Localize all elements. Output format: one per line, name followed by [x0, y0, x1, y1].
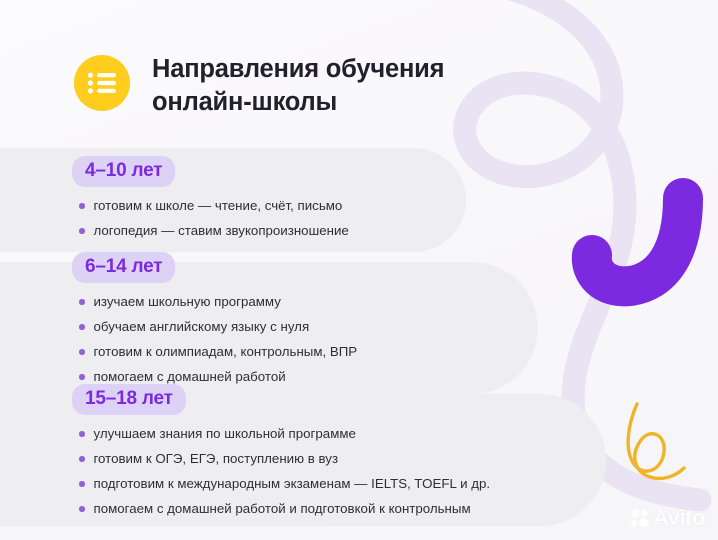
age-range-badge: 6–14 лет — [72, 252, 175, 283]
list-item: обучаем английскому языку с нуля — [72, 317, 357, 337]
avito-dots-icon — [630, 509, 649, 528]
page-title: Направления обучения онлайн-школы — [152, 52, 444, 118]
bullet-dot-icon — [79, 374, 85, 380]
list-item: готовим к школе — чтение, счёт, письмо — [72, 196, 349, 216]
bullet-dot-icon — [79, 481, 85, 487]
list-item: готовим к олимпиадам, контрольным, ВПР — [72, 342, 357, 362]
list-item-label: изучаем школьную программу — [94, 292, 281, 312]
list-item-label: логопедия — ставим звукопроизношение — [94, 221, 349, 241]
purple-hook-shape — [592, 198, 683, 286]
gold-cursive-squiggle — [628, 404, 684, 478]
list-item: готовим к ОГЭ, ЕГЭ, поступлению в вуз — [72, 449, 490, 469]
bullet-dot-icon — [79, 349, 85, 355]
bullet-dot-icon — [79, 324, 85, 330]
age-range-badge: 15–18 лет — [72, 384, 186, 415]
list-item-label: помогаем с домашней работой и подготовко… — [94, 499, 471, 519]
list-item: улучшаем знания по школьной программе — [72, 424, 490, 444]
bullet-dot-icon — [79, 203, 85, 209]
avito-watermark: Avito — [630, 507, 705, 529]
list-item-label: готовим к олимпиадам, контрольным, ВПР — [94, 342, 358, 362]
list-item: изучаем школьную программу — [72, 292, 357, 312]
avito-wordmark: Avito — [653, 507, 705, 529]
header: Направления обучения онлайн-школы — [74, 52, 444, 118]
benefit-list: изучаем школьную программу обучаем англи… — [72, 292, 357, 387]
age-group-section-0: 4–10 лет готовим к школе — чтение, счёт,… — [72, 156, 349, 241]
list-item-label: улучшаем знания по школьной программе — [94, 424, 356, 444]
list-item-label: готовим к школе — чтение, счёт, письмо — [94, 196, 343, 216]
age-group-section-2: 15–18 лет улучшаем знания по школьной пр… — [72, 384, 490, 519]
bullet-dot-icon — [79, 506, 85, 512]
benefit-list: улучшаем знания по школьной программе го… — [72, 424, 490, 519]
list-item-label: обучаем английскому языку с нуля — [94, 317, 310, 337]
bullet-dot-icon — [79, 228, 85, 234]
list-item: помогаем с домашней работой и подготовко… — [72, 499, 490, 519]
bullet-dot-icon — [79, 299, 85, 305]
bulleted-list-glyph — [87, 72, 117, 94]
list-item: логопедия — ставим звукопроизношение — [72, 221, 349, 241]
age-group-section-1: 6–14 лет изучаем школьную программу обуч… — [72, 252, 357, 387]
benefit-list: готовим к школе — чтение, счёт, письмо л… — [72, 196, 349, 241]
list-item-label: готовим к ОГЭ, ЕГЭ, поступлению в вуз — [94, 449, 339, 469]
bullet-dot-icon — [79, 456, 85, 462]
list-item: подготовим к международным экзаменам — I… — [72, 474, 490, 494]
list-item-label: подготовим к международным экзаменам — I… — [94, 474, 491, 494]
bulleted-list-icon — [74, 55, 130, 111]
poster-canvas: Направления обучения онлайн-школы 4–10 л… — [0, 0, 718, 540]
bullet-dot-icon — [79, 431, 85, 437]
age-range-badge: 4–10 лет — [72, 156, 175, 187]
